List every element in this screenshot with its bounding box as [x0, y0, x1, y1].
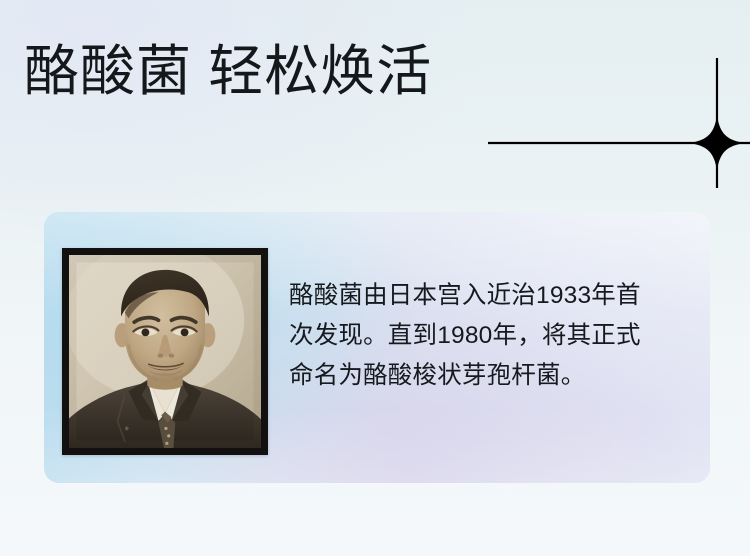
sparkle-icon	[470, 40, 750, 210]
sparkle-cross-ornament	[470, 40, 750, 210]
promo-page: 酪酸菌 轻松焕活	[0, 0, 750, 556]
scientist-portrait-image	[69, 255, 261, 448]
body-line-3: 命名为酪酸梭状芽孢杆菌。	[289, 356, 689, 396]
card-body-text: 酪酸菌由日本宫入近治1933年首 次发现。直到1980年，将其正式 命名为酪酸梭…	[289, 276, 689, 396]
body-line-2: 次发现。直到1980年，将其正式	[289, 316, 689, 356]
portrait-frame	[62, 248, 268, 455]
body-line-1: 酪酸菌由日本宫入近治1933年首	[289, 276, 689, 316]
page-title: 酪酸菌 轻松焕活	[24, 34, 432, 108]
portrait-illustration	[69, 255, 261, 448]
info-card: 酪酸菌由日本宫入近治1933年首 次发现。直到1980年，将其正式 命名为酪酸梭…	[44, 212, 710, 483]
